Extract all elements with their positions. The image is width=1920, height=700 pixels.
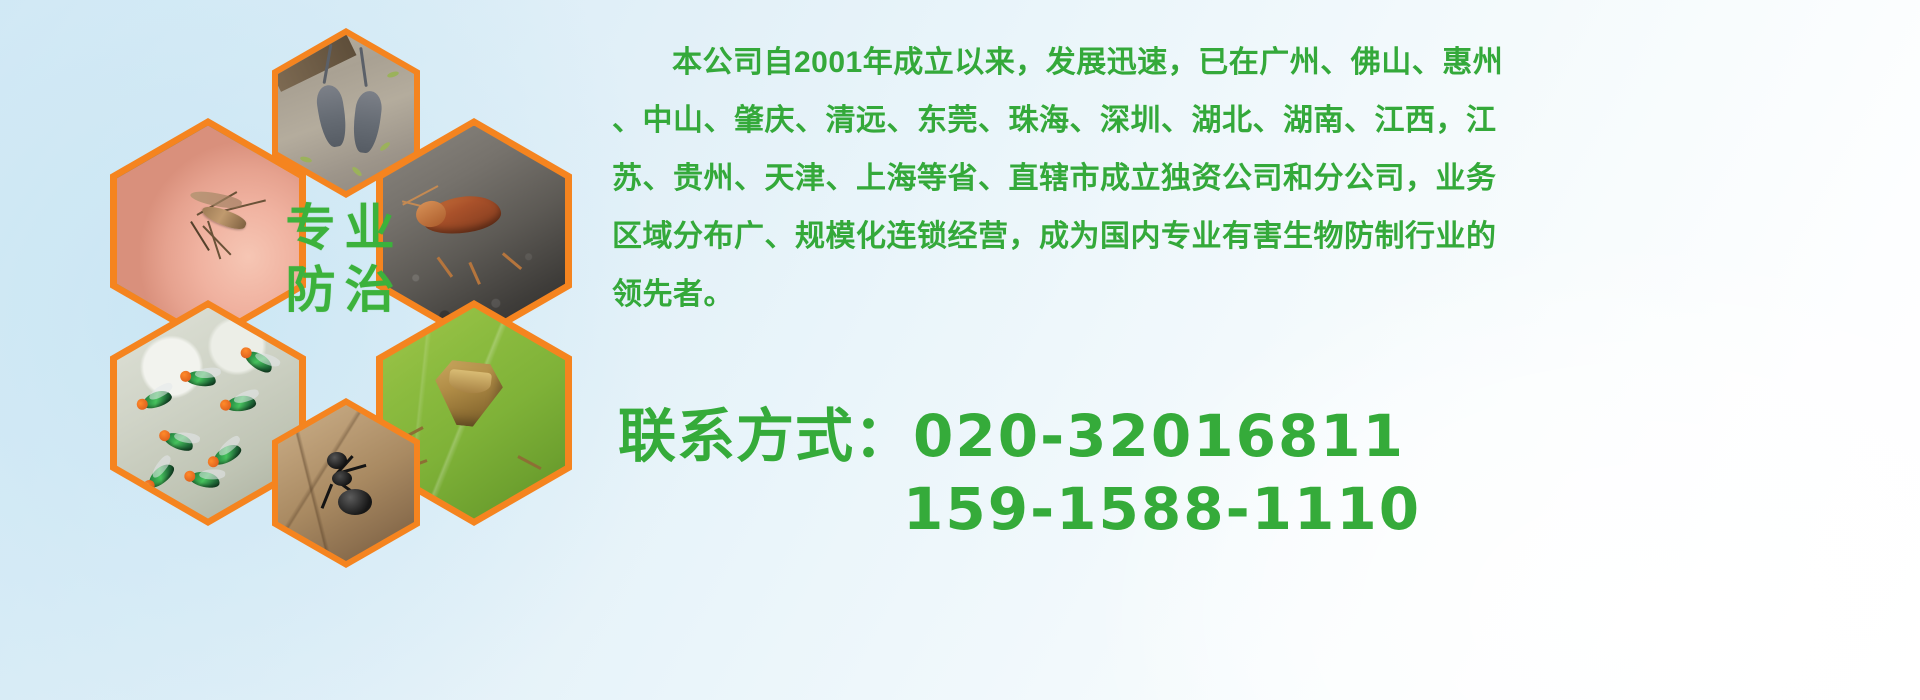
honeycomb-image-cluster: 专业 防治 [90,10,590,570]
intro-line: 区域分布广、规模化连锁经营，成为国内专业有害生物防制行业的 [612,208,1897,266]
intro-paragraph: 本公司自2001年成立以来，发展迅速，已在广州、佛山、惠州 、中山、肇庆、清远、… [612,34,1897,324]
fly-icon [243,347,276,376]
ant-head-icon [327,452,347,469]
fly-icon [210,441,244,468]
fly-icon [145,460,178,491]
intro-line: 领先者。 [612,266,1897,324]
fly-icon [225,395,256,413]
leaf-icon [378,141,391,152]
contact-label: 联系方式： [618,404,913,469]
ant-photo [278,405,414,561]
fly-icon [163,429,196,454]
intro-line: 本公司自2001年成立以来，发展迅速，已在广州、佛山、惠州 [612,34,1897,92]
fly-icon [141,388,174,412]
contact-secondary-row: 159-1588-1110 [618,473,1421,546]
rat-body-icon [350,90,383,155]
fly-icon [185,369,217,388]
intro-paragraph-block: 本公司自2001年成立以来，发展迅速，已在广州、佛山、惠州 、中山、肇庆、清远、… [612,34,1902,324]
ant-thorax-icon [332,471,352,486]
mosquito-proboscis-icon [190,221,210,251]
leaf-icon [386,71,399,78]
intro-line: 苏、贵州、天津、上海等省、直辖市成立独资公司和分公司，业务 [612,150,1897,208]
rat-tail-icon [360,47,369,87]
phone-primary[interactable]: 020-32016811 [913,402,1405,470]
logo-line-1: 专业 [277,201,404,255]
contact-block: 联系方式：020-32016811 159-1588-1110 [618,400,1421,546]
plank-shape [278,35,357,92]
phone-secondary[interactable]: 159-1588-1110 [903,475,1421,543]
fly-icon [189,469,221,490]
contact-primary-row: 联系方式：020-32016811 [618,400,1421,473]
rat-body-icon [314,83,349,148]
logo-line-2: 防治 [277,263,404,317]
ant-abdomen-icon [338,489,372,515]
pest-control-banner: 专业 防治 本公司自2001年成立以来，发展迅速，已在广州、佛山、惠州 、中山、… [0,0,1920,700]
hex-inner-ant [278,405,414,561]
intro-line: 、中山、肇庆、清远、东莞、珠海、深圳、湖北、湖南、江西，江 [612,92,1897,150]
